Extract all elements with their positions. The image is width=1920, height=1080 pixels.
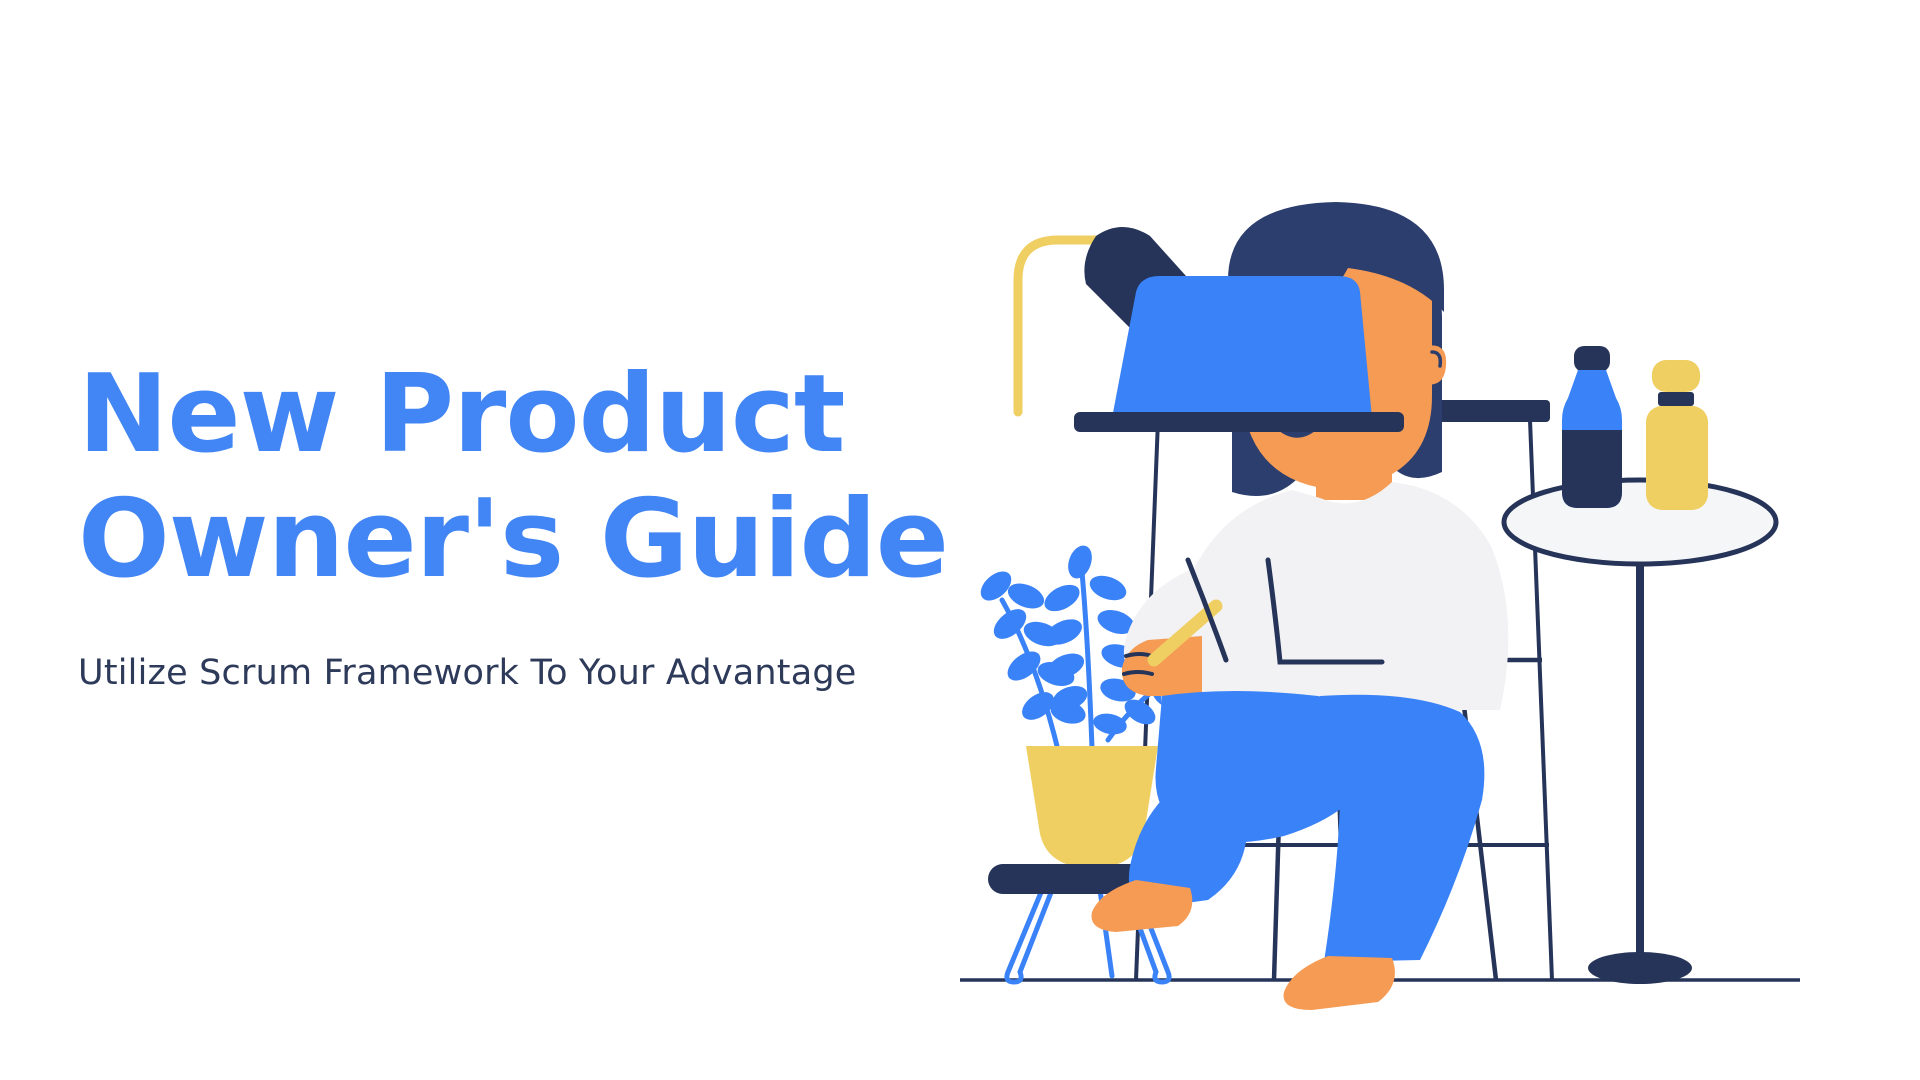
table-top — [1504, 480, 1776, 564]
pants-back-leg — [1300, 695, 1484, 962]
water-bottle-yellow — [1646, 360, 1708, 510]
text-block: New Product Owner's Guide Utilize Scrum … — [78, 352, 1018, 696]
side-table-group — [1504, 346, 1776, 984]
slide-canvas: New Product Owner's Guide Utilize Scrum … — [0, 0, 1920, 1080]
page-title: New Product Owner's Guide — [78, 352, 1018, 603]
laptop-screen — [1112, 276, 1372, 418]
table-base — [1588, 952, 1692, 984]
foot-back — [1284, 956, 1395, 1010]
water-bottle-blue — [1562, 346, 1622, 508]
laptop-base — [1074, 412, 1404, 432]
subtitle-text: Utilize Scrum Framework To Your Advantag… — [78, 603, 1018, 697]
hero-illustration — [940, 100, 1840, 1020]
